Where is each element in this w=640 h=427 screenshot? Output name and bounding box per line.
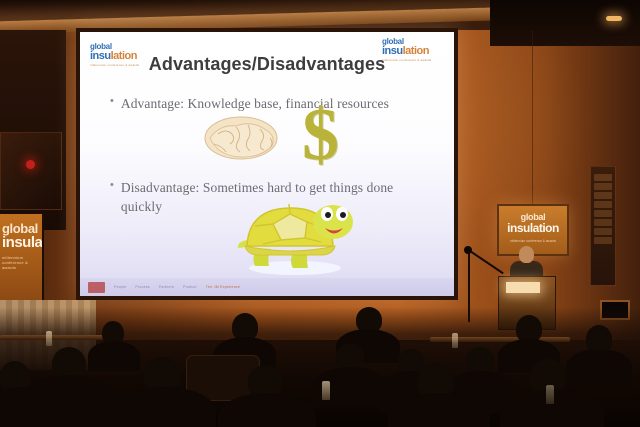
water-bottle (322, 381, 330, 400)
bullet-marker: • (110, 178, 114, 216)
footer-item-0: People (114, 285, 126, 289)
footer-item-2: Partners (159, 285, 174, 289)
audience-shoulders (88, 341, 140, 371)
conference-room-photo: global insulation millennium conference … (0, 0, 640, 427)
podium-banner: global insulation millennium conference … (497, 204, 569, 256)
audience-shoulders (566, 349, 632, 385)
dollar-sign-graphic: $ (302, 98, 339, 172)
podium-banner-line2: insulation (499, 222, 567, 235)
footer-item-1: Process (135, 285, 149, 289)
audience-area (0, 307, 640, 427)
footer-logo-icon (88, 282, 105, 293)
projection-screen: global insulation millennium conference … (76, 28, 458, 300)
podium-reading-light (506, 282, 540, 293)
water-bottle (546, 385, 554, 404)
bullet-marker: • (110, 94, 114, 113)
slide-footer: People Process Partners Product The JM E… (80, 278, 454, 296)
audience-shoulders (112, 387, 216, 427)
footer-accent-item: The JM Experience (206, 285, 240, 289)
turtle-illustration (235, 192, 353, 278)
brain-illustration (202, 110, 280, 162)
ceiling-dark-panel (490, 0, 640, 46)
left-banner-line2: insulation (2, 235, 42, 251)
microphone-icon (464, 246, 472, 254)
footer-item-3: Product (183, 285, 197, 289)
red-indicator-light-icon (26, 160, 35, 169)
podium-banner-subtitle: millennium conference & awards (499, 239, 567, 243)
left-standing-banner: global insulation millennium conference … (0, 214, 44, 300)
table-edge (430, 337, 570, 342)
water-bottle (452, 333, 458, 348)
slide-title: Advantages/Disadvantages (80, 54, 454, 75)
ceiling-spotlight-icon (606, 16, 622, 21)
speaker-head (519, 246, 534, 263)
left-banner-subtitle: millennium conference & awards (2, 255, 42, 270)
right-vertical-banner (590, 166, 616, 286)
presentation-slide: global insulation millennium conference … (80, 32, 454, 296)
water-bottle (46, 331, 52, 346)
left-wall-panel (0, 132, 62, 210)
